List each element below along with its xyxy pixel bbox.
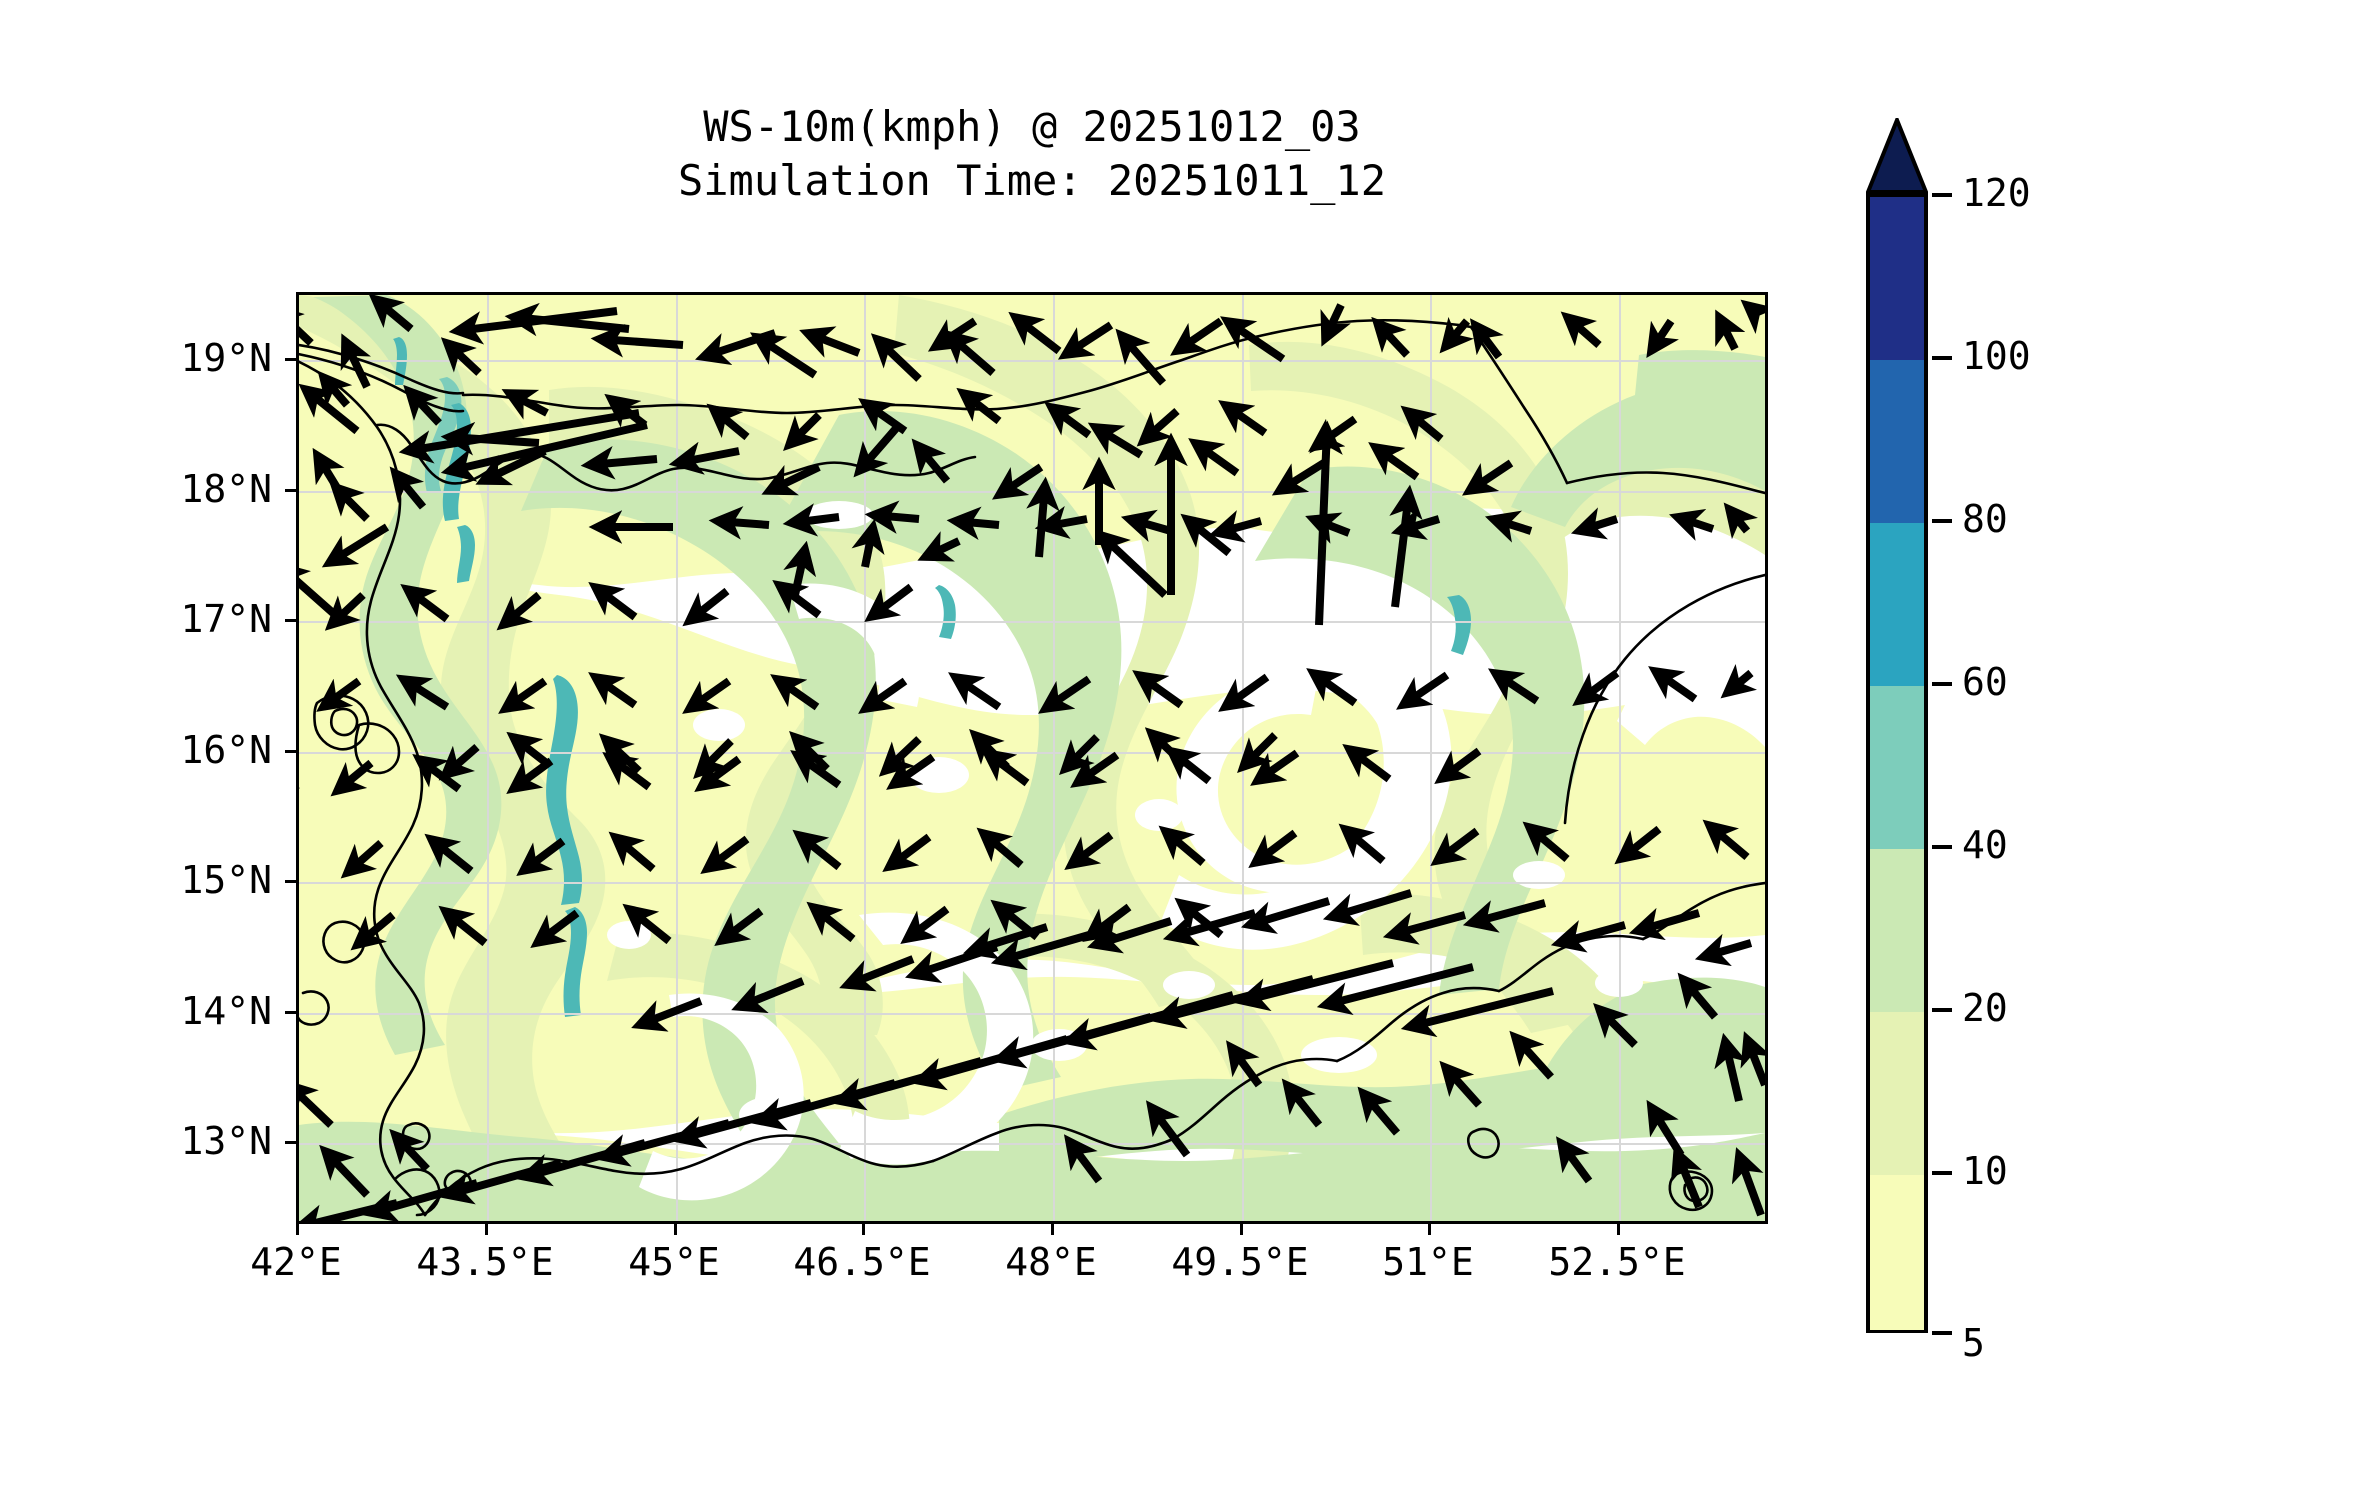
colorbar-band-10-20 [1870, 1012, 1924, 1175]
colorbar-tick-label-120: 120 [1962, 171, 2031, 215]
colorbar-tickmark [1932, 1331, 1952, 1335]
colorbar-tickmark [1932, 682, 1952, 686]
colorbar-tick-label-60: 60 [1962, 660, 2008, 704]
y-tick-label: 17°N [180, 597, 272, 641]
colorbar-band-5-10 [1870, 1175, 1924, 1330]
x-tick-label: 43.5°E [416, 1240, 553, 1284]
colorbar-tickmark [1932, 1008, 1952, 1012]
wind-vector-quiver-layer [299, 295, 1765, 1221]
x-tickmark [485, 1224, 488, 1235]
colorbar [1866, 193, 1928, 1333]
colorbar-tickmark [1932, 845, 1952, 849]
wind-arrows [299, 295, 1765, 1221]
x-tickmark [674, 1224, 677, 1235]
colorbar-band-20-40 [1870, 849, 1924, 1012]
y-tickmark [285, 358, 296, 361]
x-tickmark [1428, 1224, 1431, 1235]
colorbar-tickmark [1932, 1171, 1952, 1175]
colorbar-tickmark [1932, 519, 1952, 523]
chart-title-line2: Simulation Time: 20251011_12 [296, 154, 1768, 208]
y-tickmark [285, 1141, 296, 1144]
x-tick-label: 45°E [628, 1240, 720, 1284]
y-tick-label: 14°N [180, 989, 272, 1033]
y-tickmark [285, 1011, 296, 1014]
colorbar-tickmark [1932, 356, 1952, 360]
colorbar-tick-label-20: 20 [1962, 986, 2008, 1030]
y-tick-label: 13°N [180, 1119, 272, 1163]
chart-title: WS-10m(kmph) @ 20251012_03 Simulation Ti… [296, 100, 1768, 208]
x-tick-label: 48°E [1005, 1240, 1097, 1284]
x-tick-label: 46.5°E [793, 1240, 930, 1284]
colorbar-band-40-60 [1870, 686, 1924, 849]
y-tickmark [285, 750, 296, 753]
colorbar-tick-label-100: 100 [1962, 334, 2031, 378]
x-tick-label: 52.5°E [1548, 1240, 1685, 1284]
colorbar-band-60-80 [1870, 523, 1924, 686]
y-tick-label: 19°N [180, 336, 272, 380]
x-tickmark [1051, 1224, 1054, 1235]
colorbar-tick-label-40: 40 [1962, 823, 2008, 867]
x-tickmark [1617, 1224, 1620, 1235]
colorbar-extend-arrow [1866, 118, 1928, 194]
x-tick-label: 51°E [1382, 1240, 1474, 1284]
x-tickmark [296, 1224, 299, 1235]
x-tick-label: 49.5°E [1171, 1240, 1308, 1284]
map-canvas [299, 295, 1765, 1221]
x-tickmark [1240, 1224, 1243, 1235]
colorbar-tick-label-80: 80 [1962, 497, 2008, 541]
colorbar-tick-label-10: 10 [1962, 1149, 2008, 1193]
y-tickmark [285, 880, 296, 883]
chart-title-line1: WS-10m(kmph) @ 20251012_03 [296, 100, 1768, 154]
y-tick-label: 16°N [180, 728, 272, 772]
y-tick-label: 15°N [180, 858, 272, 902]
colorbar-tick-label-5: 5 [1962, 1321, 1985, 1365]
colorbar-tickmark [1932, 193, 1952, 197]
y-tickmark [285, 619, 296, 622]
y-tickmark [285, 489, 296, 492]
map-plot-area [296, 292, 1768, 1224]
x-tickmark [862, 1224, 865, 1235]
colorbar-band-80-100 [1870, 360, 1924, 523]
y-axis: 19°N 18°N 17°N 16°N 15°N 14°N 13°N [0, 0, 286, 1500]
y-tick-label: 18°N [180, 467, 272, 511]
colorbar-band-100-120 [1870, 197, 1924, 360]
